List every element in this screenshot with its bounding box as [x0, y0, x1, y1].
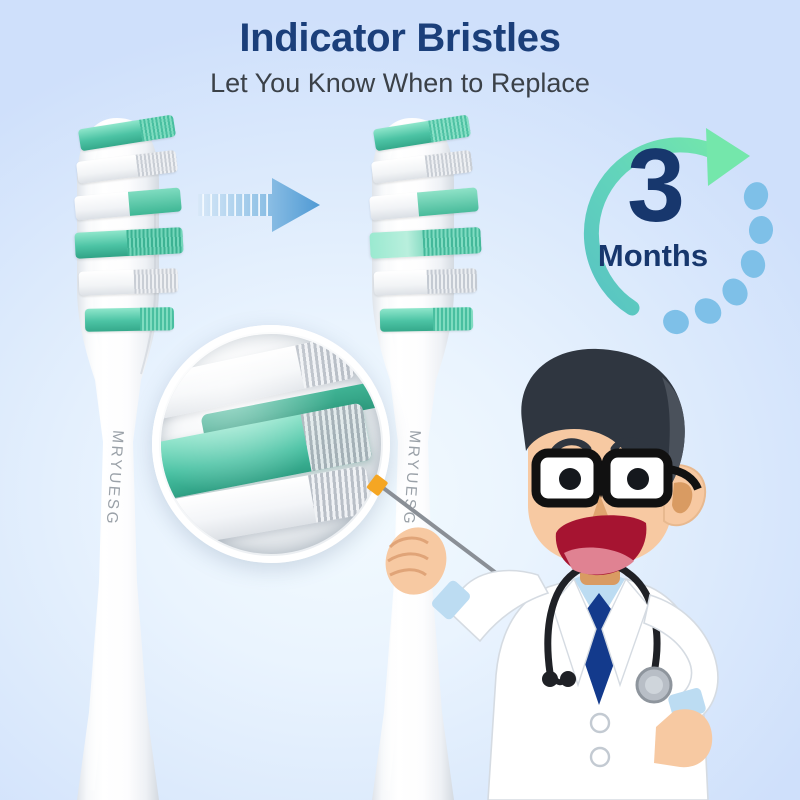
- zoom-glass-highlight: [161, 334, 381, 554]
- bristle-row-5: [79, 268, 178, 295]
- badge-number: 3: [596, 134, 716, 238]
- bristle-row-5: [374, 268, 477, 296]
- eye-left: [559, 468, 581, 490]
- page-subtitle: Let You Know When to Replace: [0, 68, 800, 99]
- bristle-zoom-content: [161, 334, 381, 554]
- badge-unit: Months: [568, 238, 738, 274]
- infographic-canvas: Indicator Bristles Let You Know When to …: [0, 0, 800, 800]
- eye-right: [627, 468, 649, 490]
- replacement-interval-badge: 3 Months: [560, 112, 782, 334]
- transition-arrow: [196, 174, 324, 236]
- bristle-zoom-circle: [152, 325, 390, 563]
- cartoon-dentist: [478, 355, 800, 800]
- page-title: Indicator Bristles: [0, 16, 800, 61]
- bristle-row-6: [380, 307, 472, 332]
- bristle-row-6: [85, 307, 173, 332]
